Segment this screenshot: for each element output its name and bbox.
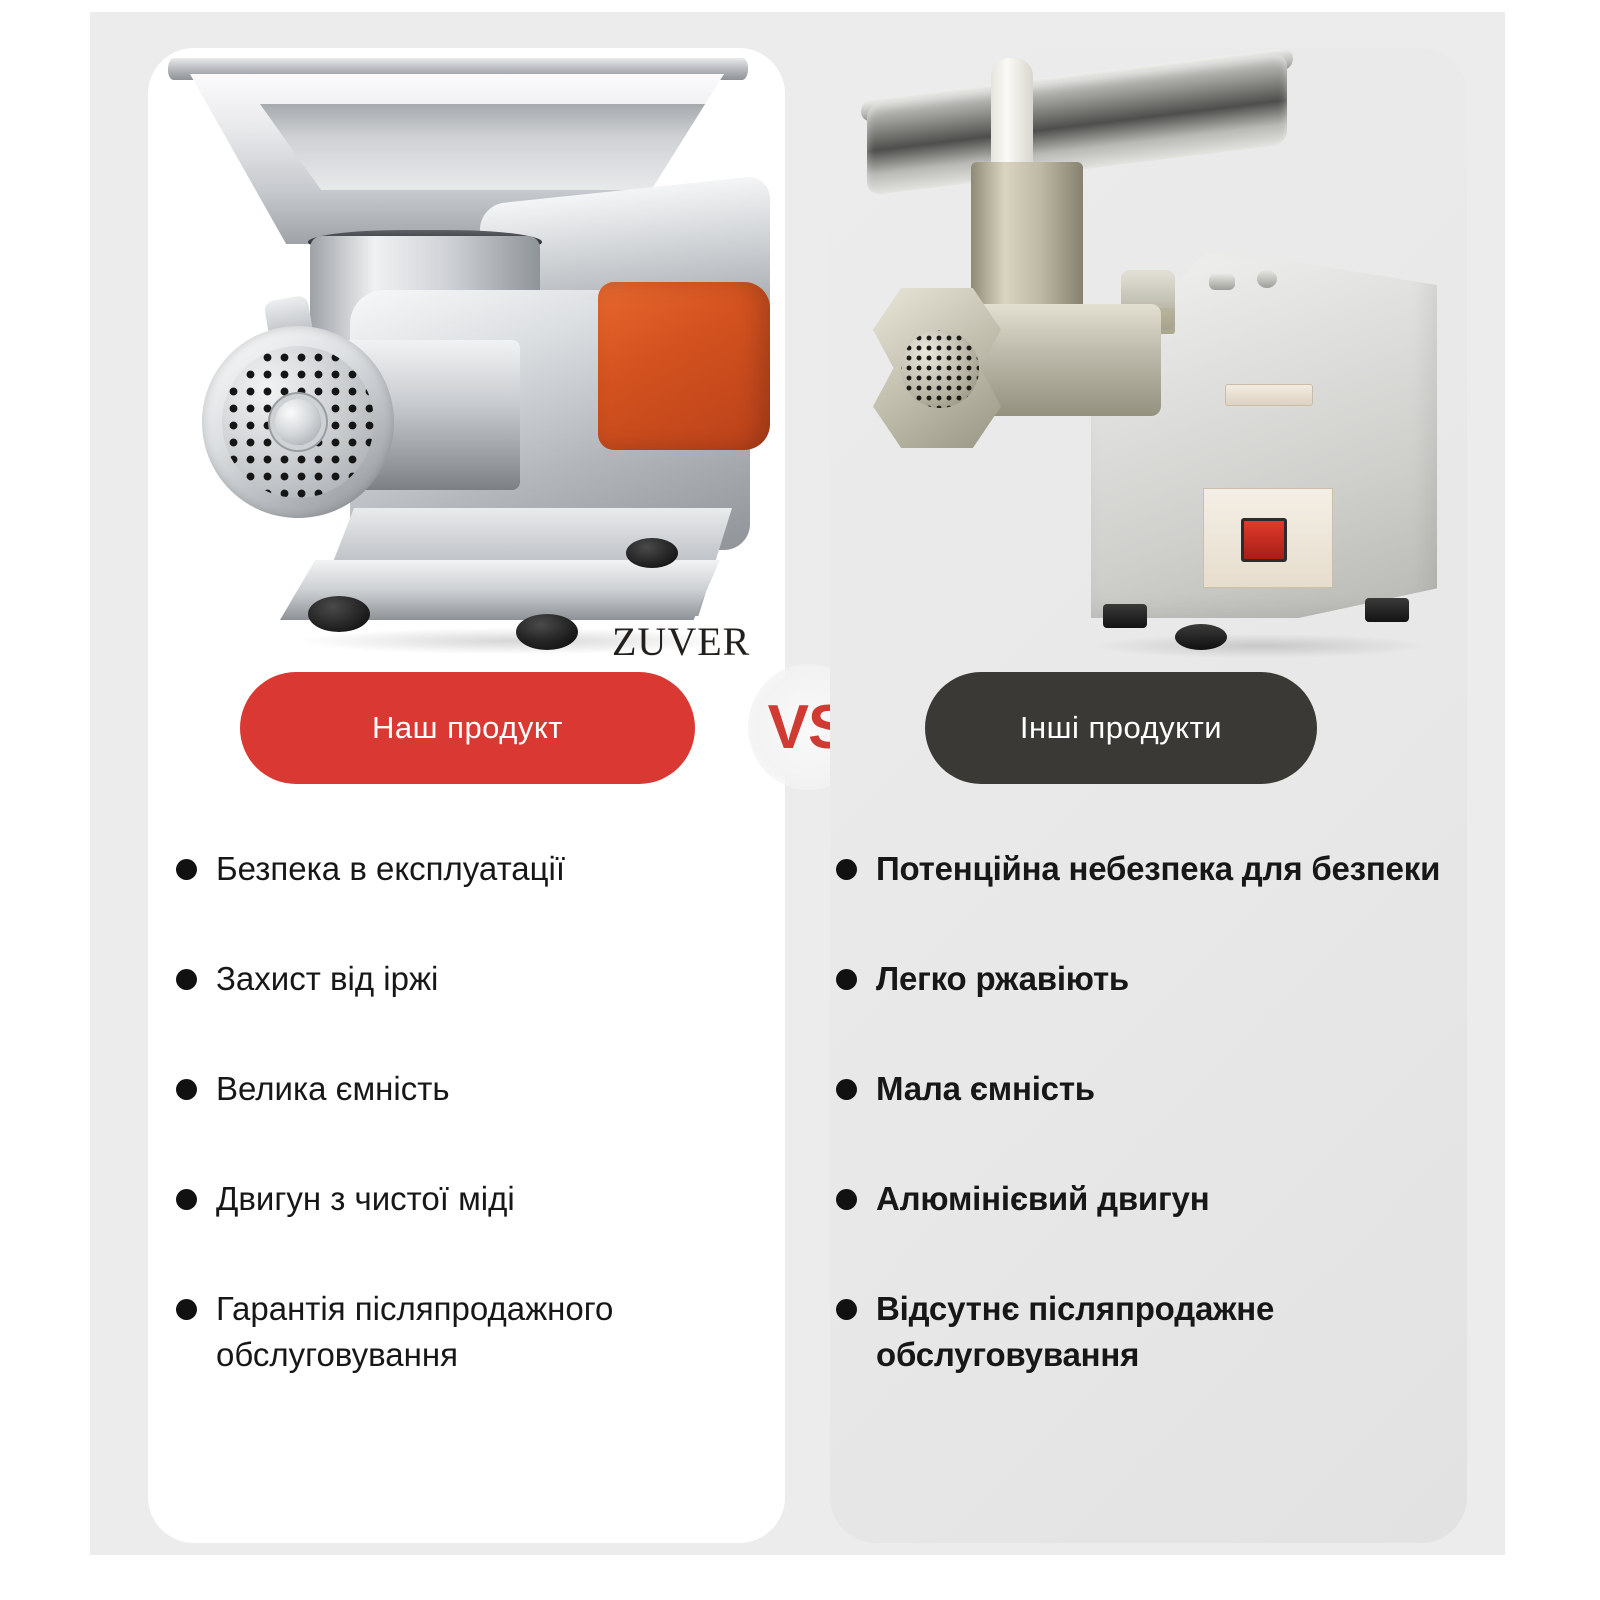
bullet-icon	[176, 1299, 197, 1320]
hopper-inner-shade	[260, 104, 730, 190]
list-item: Захист від іржі	[172, 956, 782, 1066]
bullet-icon	[176, 969, 197, 990]
list-item: Мала ємність	[832, 1066, 1472, 1176]
list-item: Потенційна небезпека для безпеки	[832, 846, 1472, 956]
feature-list-other-products: Потенційна небезпека для безпеки Легко р…	[832, 846, 1472, 1378]
list-item-label: Велика ємність	[216, 1066, 782, 1112]
food-pusher	[991, 58, 1033, 178]
bullet-icon	[836, 969, 857, 990]
brand-logo-zuver: ZUVER	[612, 618, 750, 665]
bullet-icon	[176, 1189, 197, 1210]
rubber-foot	[1365, 598, 1409, 622]
list-item-label: Безпека в експлуатації	[216, 846, 782, 892]
list-item-label: Легко ржавіють	[876, 956, 1472, 1002]
list-item-label: Алюмінієвий двигун	[876, 1176, 1472, 1222]
list-item-label: Двигун з чистої міді	[216, 1176, 782, 1222]
list-item: Велика ємність	[172, 1066, 782, 1176]
plate-holes	[901, 330, 979, 408]
bullet-icon	[836, 1079, 857, 1100]
list-item-label: Гарантія післяпродажного обслуговування	[216, 1286, 782, 1378]
list-item: Гарантія післяпродажного обслуговування	[172, 1286, 782, 1378]
rubber-foot	[1103, 604, 1147, 628]
list-item: Алюмінієвий двигун	[832, 1176, 1472, 1286]
list-item: Легко ржавіють	[832, 956, 1472, 1066]
orange-motor-housing	[598, 282, 770, 450]
bullet-icon	[176, 859, 197, 880]
list-item-label: Мала ємність	[876, 1066, 1472, 1112]
label-our-product-text: Наш продукт	[372, 710, 563, 746]
bullet-icon	[836, 859, 857, 880]
brand-strip	[1225, 384, 1313, 406]
list-item-label: Потенційна небезпека для безпеки	[876, 846, 1472, 892]
power-switch[interactable]	[1241, 518, 1287, 562]
cabinet-knob	[1257, 270, 1277, 288]
list-item: Двигун з чистої міді	[172, 1176, 782, 1286]
list-item-label: Захист від іржі	[216, 956, 782, 1002]
cabinet-knob	[1209, 274, 1235, 290]
grinding-plate	[222, 346, 374, 498]
drop-shadow	[1095, 634, 1425, 658]
comparison-infographic: ZUVER Наш продукт Безпека в експлуатації…	[0, 0, 1600, 1600]
product-image-our-grinder	[150, 40, 790, 660]
list-item: Відсутнє післяпродажне обслуговування	[832, 1286, 1472, 1378]
bullet-icon	[176, 1079, 197, 1100]
rubber-foot	[308, 596, 370, 632]
bullet-icon	[836, 1299, 857, 1320]
label-our-product[interactable]: Наш продукт	[240, 672, 695, 784]
feature-list-our-product: Безпека в експлуатації Захист від іржі В…	[172, 846, 782, 1378]
label-other-products[interactable]: Інші продукти	[925, 672, 1317, 784]
bullet-icon	[836, 1189, 857, 1210]
list-item-label: Відсутнє післяпродажне обслуговування	[876, 1286, 1472, 1378]
grinding-plate	[901, 330, 979, 408]
list-item: Безпека в експлуатації	[172, 846, 782, 956]
label-other-products-text: Інші продукти	[1020, 710, 1222, 746]
product-image-other-grinder	[845, 52, 1465, 662]
rubber-foot	[626, 538, 678, 568]
plate-hub	[275, 399, 321, 445]
